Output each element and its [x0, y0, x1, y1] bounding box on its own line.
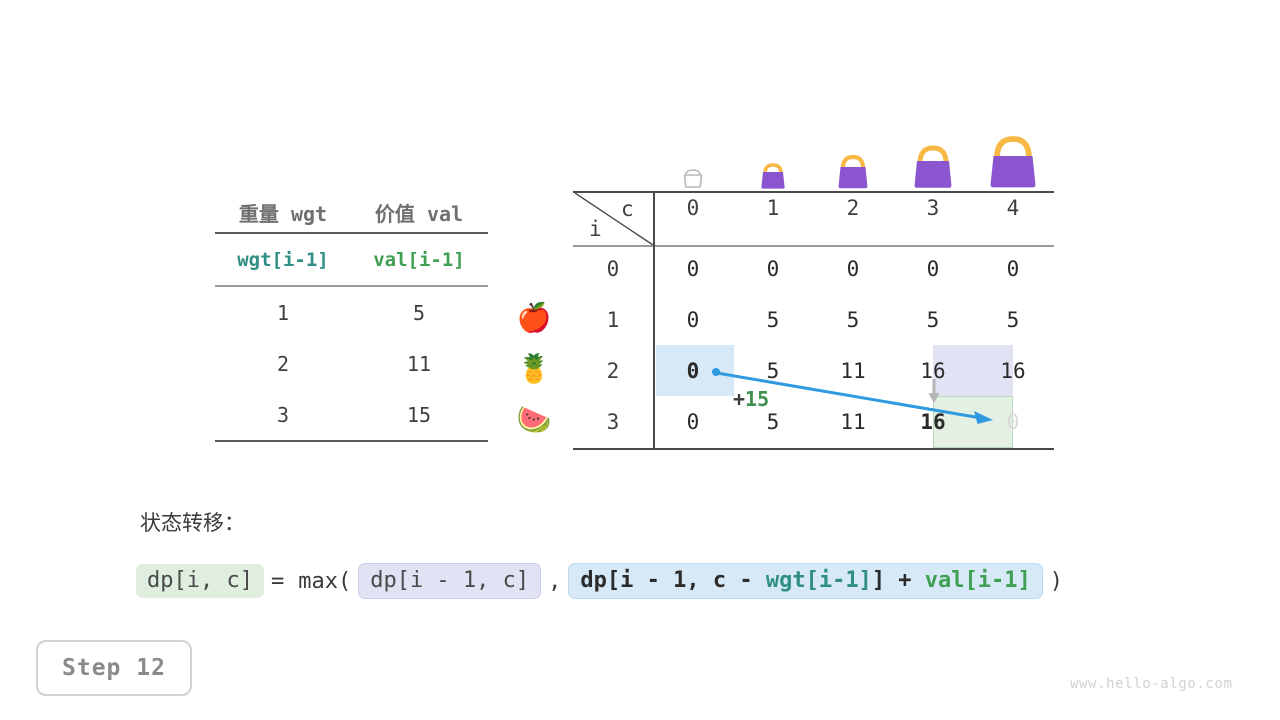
bag-4-icon — [973, 120, 1053, 190]
bag-1-icon — [733, 120, 813, 190]
formula-term2-wgt: wgt[i-1] — [766, 568, 872, 593]
increment-value: 15 — [745, 387, 769, 411]
item-subheader-wgt: wgt[i-1] — [215, 249, 351, 271]
dp-cell-1-4: 5 — [973, 308, 1053, 332]
formula-max-open: max( — [291, 569, 358, 594]
dp-col-header-0: 0 — [653, 196, 733, 220]
fruit-column: 🍎 🍍 🍉 — [505, 292, 563, 445]
increment-sign: + — [733, 387, 745, 411]
state-transition-formula: dp[i, c] = max( dp[i - 1, c] , dp[i - 1,… — [136, 558, 1070, 604]
item-wgt-1: 1 — [215, 301, 351, 325]
dp-row-header-0: 0 — [573, 257, 653, 281]
value-increment-annotation: +15 — [733, 387, 769, 411]
item-header-val: 价值 val — [351, 198, 487, 227]
dp-col-header-3: 3 — [893, 196, 973, 220]
dp-cell-1-0: 0 — [653, 308, 733, 332]
item-wgt-2: 2 — [215, 352, 351, 376]
item-row-2: 2 11 — [215, 338, 488, 389]
formula-term2-mid: ] + — [872, 568, 925, 593]
formula-equals: = — [264, 569, 291, 594]
item-row-1: 1 5 — [215, 287, 488, 338]
bag-2-icon — [813, 120, 893, 190]
item-row-3: 3 15 — [215, 389, 488, 440]
corner-col-label: c — [621, 197, 634, 221]
formula-term2-val: val[i-1] — [925, 568, 1031, 593]
grid-header-rule — [573, 245, 1054, 247]
dp-col-header-4: 4 — [973, 196, 1053, 220]
formula-max-close: ) — [1043, 569, 1070, 594]
dp-cell-1-3: 5 — [893, 308, 973, 332]
formula-term2-prefix: dp[i - 1, c - — [580, 568, 765, 593]
dp-cell-0-4: 0 — [973, 257, 1053, 281]
item-val-2: 11 — [351, 352, 487, 376]
formula-target-chip: dp[i, c] — [136, 564, 264, 598]
item-table: 重量 wgt 价值 val wgt[i-1] val[i-1] 1 5 2 11… — [215, 192, 488, 442]
step-badge: Step 12 — [36, 640, 192, 696]
corner-row-label: i — [589, 217, 602, 241]
pineapple-emoji-icon: 🍍 — [505, 343, 563, 394]
dp-cell-0-0: 0 — [653, 257, 733, 281]
dp-cell-0-3: 0 — [893, 257, 973, 281]
watermark: www.hello-algo.com — [1070, 676, 1233, 692]
item-table-rule-bottom — [215, 440, 488, 442]
apple-emoji-icon: 🍎 — [505, 292, 563, 343]
item-val-3: 15 — [351, 403, 487, 427]
dp-row-header-2: 2 — [573, 359, 653, 383]
item-header-wgt: 重量 wgt — [215, 198, 351, 227]
formula-term2-chip: dp[i - 1, c - wgt[i-1]] + val[i-1] — [568, 563, 1042, 599]
bag-3-icon — [893, 120, 973, 190]
dp-col-header-1: 1 — [733, 196, 813, 220]
bag-empty-icon — [653, 120, 733, 190]
formula-comma: , — [541, 569, 568, 594]
bag-capacity-row — [653, 120, 1053, 190]
dp-col-header-2: 2 — [813, 196, 893, 220]
dp-cell-1-1: 5 — [733, 308, 813, 332]
watermelon-emoji-icon: 🍉 — [505, 394, 563, 445]
item-wgt-3: 3 — [215, 403, 351, 427]
dp-cell-0-2: 0 — [813, 257, 893, 281]
dp-row-header-3: 3 — [573, 410, 653, 434]
state-transition-label: 状态转移： — [140, 507, 245, 537]
grid-bottom-rule — [573, 448, 1054, 450]
dp-cell-1-2: 5 — [813, 308, 893, 332]
dp-cell-0-1: 0 — [733, 257, 813, 281]
formula-term1-chip: dp[i - 1, c] — [358, 563, 541, 599]
corner-diagonal-line — [575, 193, 653, 245]
dp-row-header-1: 1 — [573, 308, 653, 332]
item-table-header-row: 重量 wgt 价值 val — [215, 192, 488, 232]
item-table-subheader-row: wgt[i-1] val[i-1] — [215, 234, 488, 285]
item-subheader-val: val[i-1] — [351, 249, 487, 271]
item-val-1: 5 — [351, 301, 487, 325]
dp-table: c i 0 1 2 3 4 0 1 2 3 0 0 0 0 0 0 5 5 5 … — [573, 191, 1054, 450]
